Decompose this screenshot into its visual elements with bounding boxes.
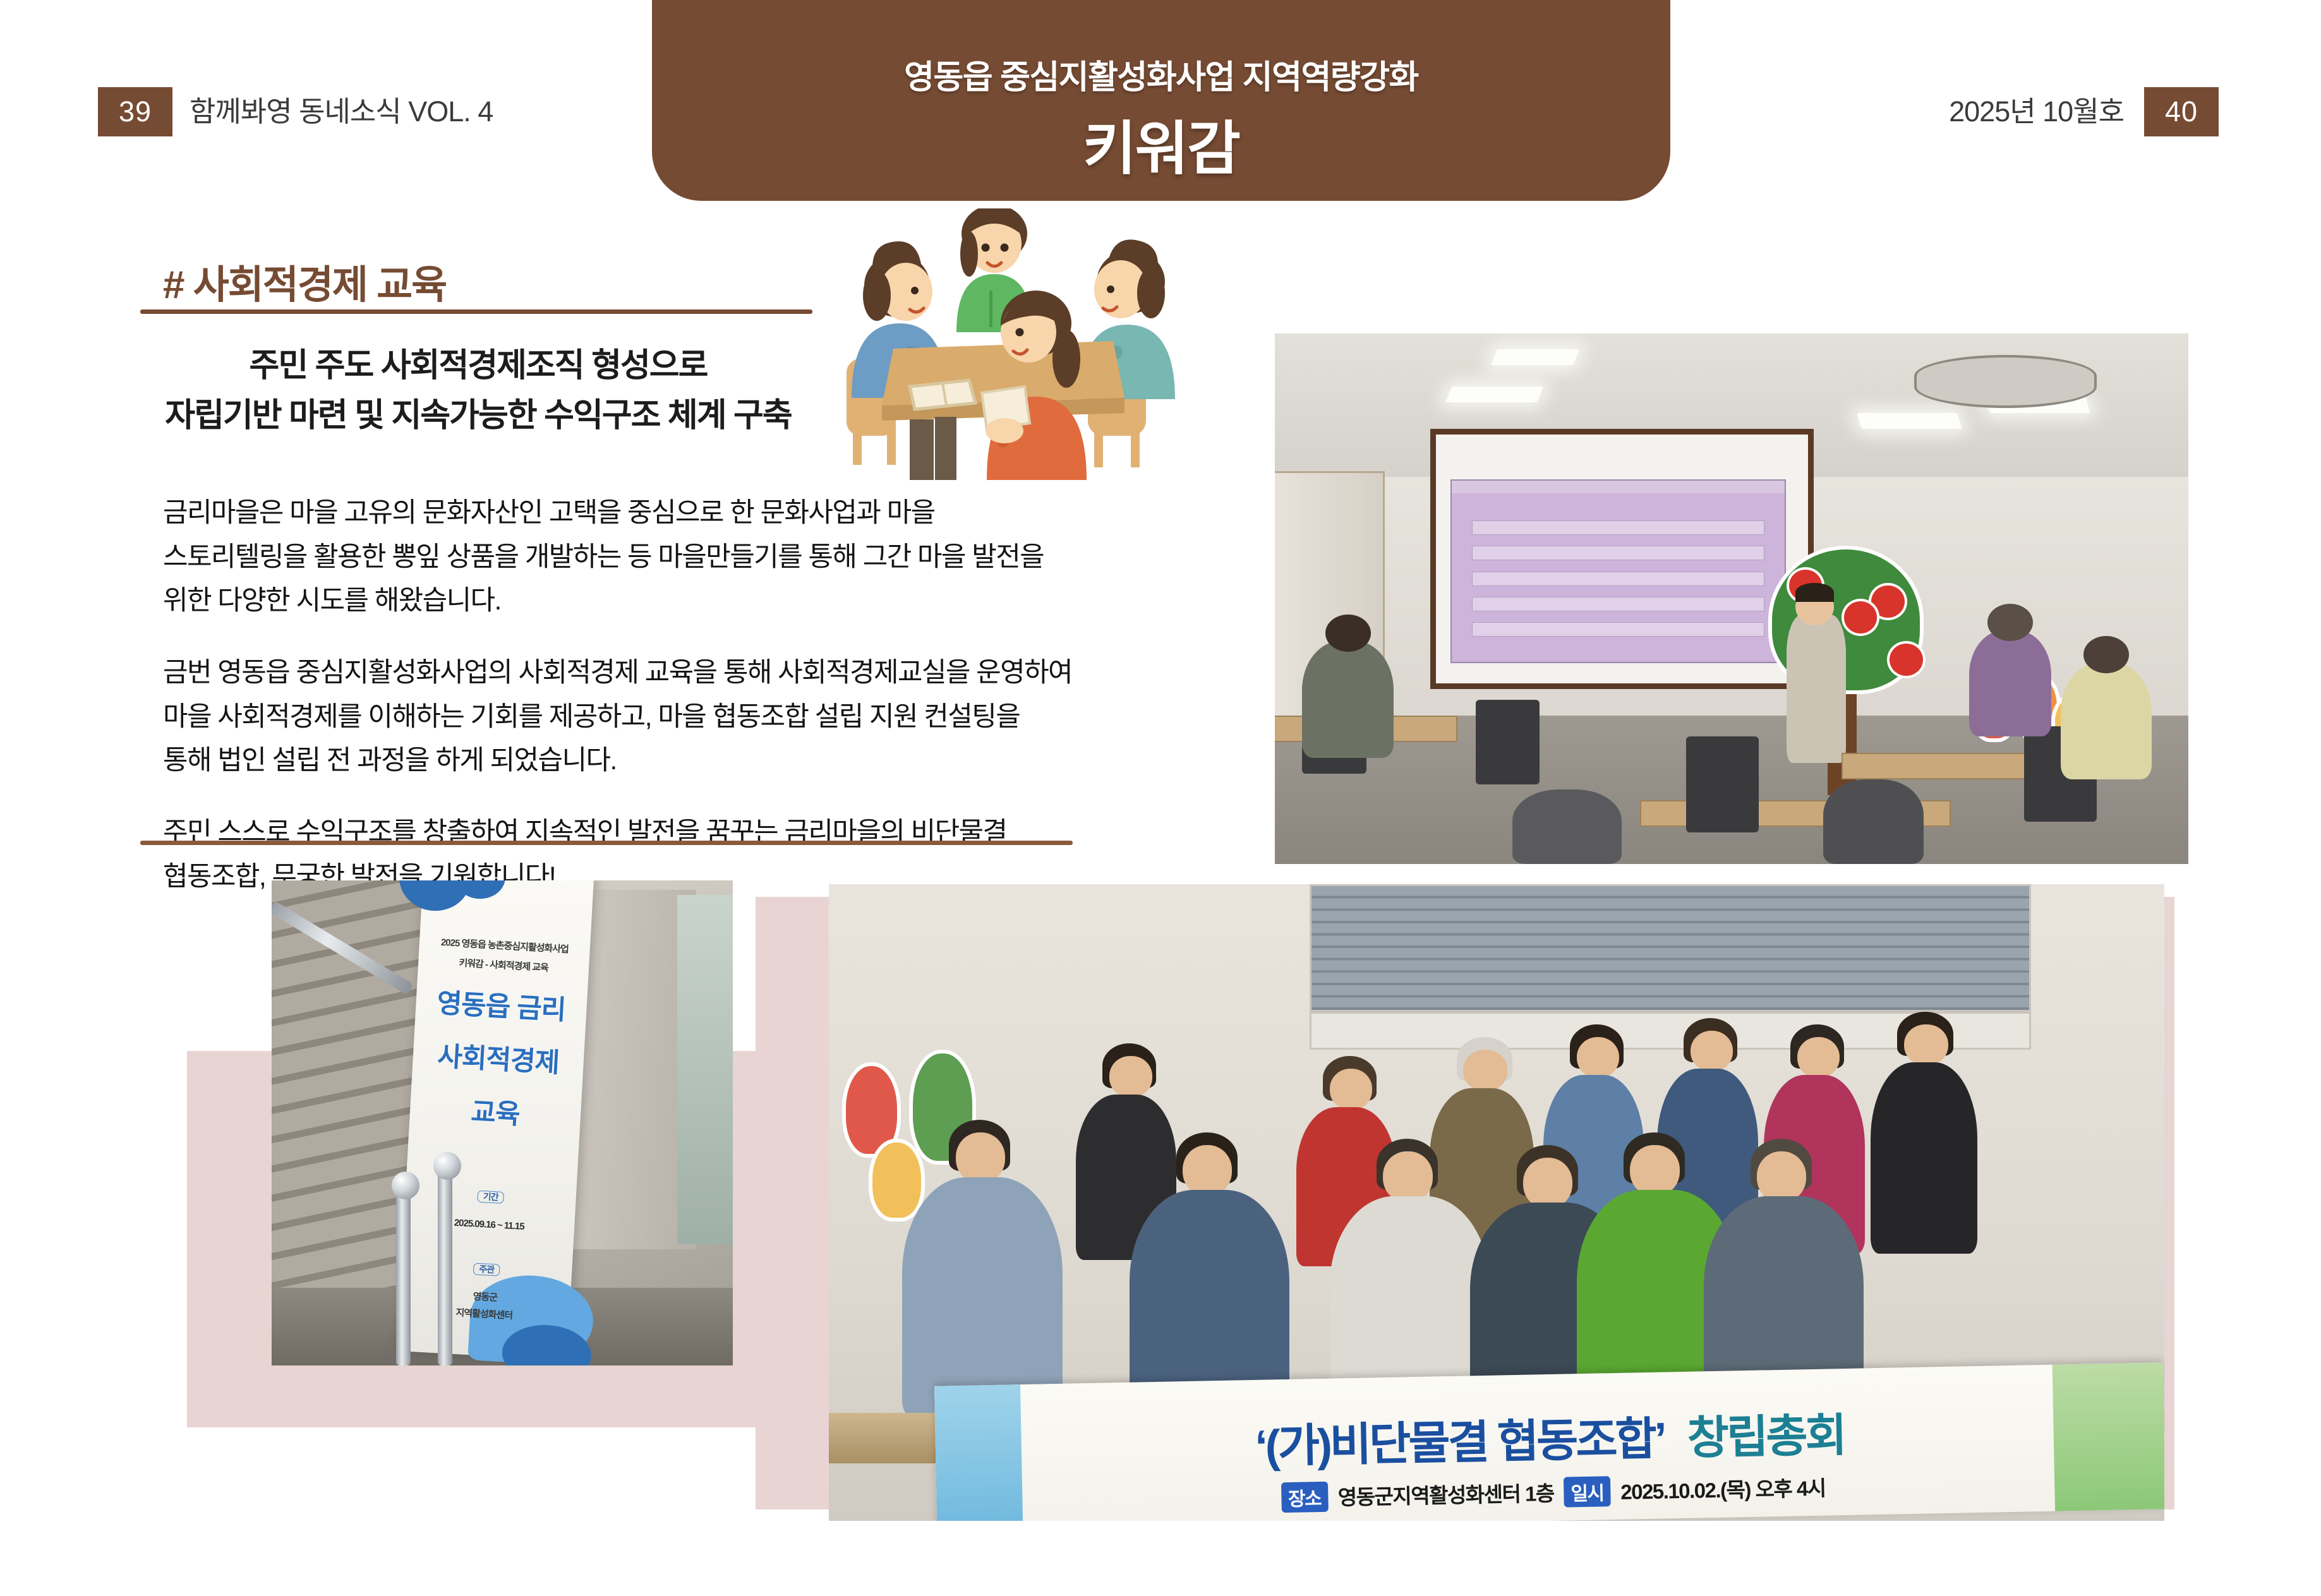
ceiling-light-1 <box>1491 349 1579 365</box>
attendee-3-head <box>2083 636 2129 673</box>
banner-date-label: 일시 <box>1564 1477 1611 1508</box>
screen-row-2 <box>1472 546 1764 560</box>
banner-host-label-row: 주관 <box>401 1259 572 1280</box>
attendee-1-head <box>1325 615 1371 652</box>
banner-period-label: 기간 <box>477 1190 504 1204</box>
attendee-2 <box>1969 630 2051 736</box>
presenter-body <box>1787 615 1846 763</box>
four-people-table-icon <box>835 208 1202 480</box>
attendee-2-head <box>1987 604 2033 641</box>
screen-row-5 <box>1472 622 1764 637</box>
banner-title-event: 창립총회 <box>1687 1411 1845 1465</box>
chair-2 <box>1476 700 1540 784</box>
handrail-knob-1 <box>392 1172 419 1199</box>
p2-line-2: 마을 사회적경제를 이해하는 기회를 제공하고, 마을 협동조합 설립 지원 컨… <box>163 695 1085 740</box>
page-number-left-text: 39 <box>119 95 152 128</box>
person-f6-head <box>1757 1151 1806 1203</box>
body-divider <box>140 841 1073 845</box>
person-b7-body <box>1871 1062 1977 1253</box>
presentation-screen <box>1450 479 1785 663</box>
banner-host-label: 주관 <box>473 1263 500 1276</box>
attendee-4 <box>1823 779 1924 864</box>
person-b6-head <box>1797 1037 1840 1079</box>
p1-line-3: 위한 다양한 시도를 해왔습니다. <box>163 579 1085 623</box>
p1-line-1: 금리마을은 마을 고유의 문화자산인 고택을 중심으로 한 문화사업과 마을 <box>163 491 1085 536</box>
banner-title-line-1: 영동읍 금리 <box>415 987 587 1026</box>
screen-row-4 <box>1472 597 1764 611</box>
issue-date: 2025년 10월호 <box>1949 88 2124 129</box>
meeting-illustration <box>835 208 1202 480</box>
window-blind <box>1310 884 2031 1012</box>
person-b5-head <box>1691 1031 1733 1072</box>
section-heading: # 사회적경제 교육 <box>163 253 446 309</box>
body-copy: 금리마을은 마을 고유의 문화자산인 고택을 중심으로 한 문화사업과 마을 스… <box>163 491 1085 899</box>
person-f1-head <box>956 1132 1005 1184</box>
person-f1-body <box>902 1177 1063 1419</box>
banner-place-label: 장소 <box>1281 1482 1329 1513</box>
p3-line-1: 주민 스스로 수익구조를 창출하여 지속적인 발전을 꿈꾸는 금리마을의 비단물… <box>163 811 1085 855</box>
air-conditioner <box>1914 355 2097 408</box>
header-plaque: 영동읍 중심지활성화사업 지역역량강화 키워감 <box>652 0 1670 201</box>
banner-date-value: 2025.10.02.(목) 오후 4시 <box>1620 1477 1826 1504</box>
person-b4-head <box>1577 1037 1620 1079</box>
p2-line-1: 금번 영동읍 중심지활성화사업의 사회적경제 교육을 통해 사회적경제교실을 운… <box>163 651 1085 695</box>
classroom-lecture-photo <box>1275 333 2188 864</box>
attendee-1 <box>1302 641 1394 758</box>
apple-5 <box>1842 599 1880 636</box>
screen-row-3 <box>1472 572 1764 586</box>
mascot-peach-yellow <box>869 1139 925 1221</box>
page-number-badge-right: 40 <box>2144 87 2219 136</box>
ceiling-light-2 <box>1445 387 1543 402</box>
screen-toolbar <box>1452 481 1784 493</box>
banner-period-value: 2025.09.16 ~ 11.15 <box>404 1215 575 1235</box>
banner-top-line-1: 2025 영동읍 농촌중심지활성화사업 <box>419 937 591 957</box>
page-number-right-text: 40 <box>2165 95 2198 128</box>
lead-subtitle: 주민 주도 사회적경제조직 형성으로 자립기반 마련 및 지속가능한 수익구조 … <box>140 341 816 441</box>
person-f4-head <box>1523 1158 1572 1209</box>
person-b2-head <box>1330 1069 1373 1110</box>
banner-title-line-3: 교육 <box>409 1094 581 1133</box>
x-banner-standee-photo: 2025 영동읍 농촌중심지활성화사업 키워감 - 사회적경제 교육 영동읍 금… <box>272 880 733 1365</box>
handrail-post-2 <box>438 1172 452 1365</box>
person-b3-head <box>1463 1050 1507 1091</box>
person-f5-head <box>1630 1145 1679 1196</box>
heading-divider <box>140 309 812 314</box>
person-b1-head <box>1109 1056 1152 1098</box>
header-title: 키워감 <box>1083 102 1239 186</box>
person-f2-head <box>1183 1145 1232 1196</box>
p2-line-3: 통해 법인 설립 전 과정을 하게 되었습니다. <box>163 739 1085 783</box>
glass-panel <box>677 895 733 1244</box>
lead-line-2: 자립기반 마련 및 지속가능한 수익구조 체계 구축 <box>140 391 816 441</box>
masthead-title: 함께봐영 동네소식 VOL. 4 <box>190 88 493 129</box>
page-header: 39 함께봐영 동네소식 VOL. 4 영동읍 중심지활성화사업 지역역량강화 … <box>0 0 2321 208</box>
banner-title-line-2: 사회적경제 <box>413 1041 584 1080</box>
attendee-5 <box>1512 789 1622 864</box>
handrail-post-1 <box>396 1191 411 1365</box>
banner-period-label-row: 기간 <box>405 1186 576 1208</box>
apple-4 <box>1887 641 1926 678</box>
chair-3 <box>1686 736 1759 832</box>
paragraph-1: 금리마을은 마을 고유의 문화자산인 고택을 중심으로 한 문화사업과 마을 스… <box>163 491 1085 623</box>
whiteboard-frame <box>1430 429 1814 689</box>
p1-line-2: 스토리텔링을 활용한 뽕잎 상품을 개발하는 등 마을만들기를 통해 그간 마을… <box>163 536 1085 580</box>
banner-top-line-2: 키워감 - 사회적경제 교육 <box>418 956 589 976</box>
screen-row-1 <box>1472 520 1764 535</box>
person-b7-head <box>1904 1024 1948 1066</box>
paragraph-2: 금번 영동읍 중심지활성화사업의 사회적경제 교육을 통해 사회적경제교실을 운… <box>163 651 1085 783</box>
banner-title-org: ‘(가)비단물결 협동조합’ <box>1255 1414 1664 1472</box>
person-f3-head <box>1383 1151 1432 1203</box>
ceiling-light-3 <box>1857 413 1962 429</box>
attendee-3 <box>2061 663 2152 779</box>
header-subtitle: 영동읍 중심지활성화사업 지역역량강화 <box>904 51 1418 98</box>
page-number-badge-left: 39 <box>98 87 172 136</box>
banner-sheet: 2025 영동읍 농촌중심지활성화사업 키워감 - 사회적경제 교육 영동읍 금… <box>397 880 594 1360</box>
handrail-knob-2 <box>433 1152 461 1180</box>
presenter-hair <box>1795 583 1834 602</box>
founding-assembly-group-photo: ‘(가)비단물결 협동조합’ 창립총회 장소 영동군지역활성화센터 1층 일시 … <box>829 884 2164 1521</box>
event-banner: ‘(가)비단물결 협동조합’ 창립총회 장소 영동군지역활성화센터 1층 일시 … <box>934 1363 2164 1521</box>
lead-line-1: 주민 주도 사회적경제조직 형성으로 <box>140 341 816 391</box>
banner-place-value: 영동군지역활성화센터 1층 <box>1338 1482 1555 1509</box>
